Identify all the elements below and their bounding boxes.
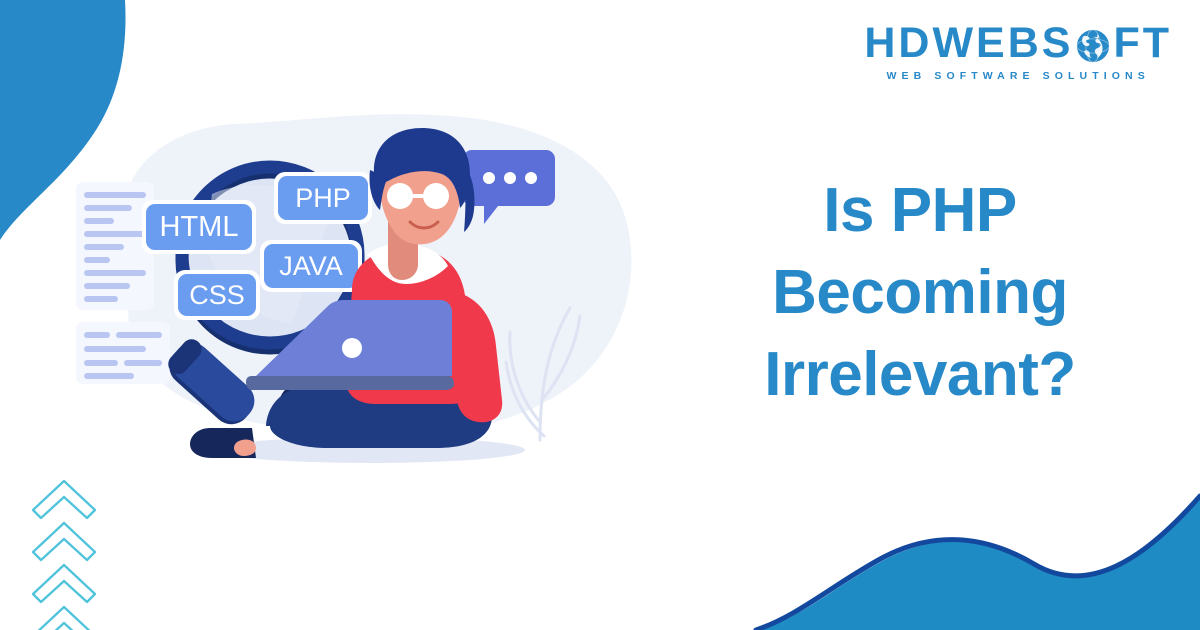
svg-text:JAVA: JAVA: [279, 251, 343, 281]
code-card-top: [76, 182, 154, 310]
page-title-line-3: Irrelevant?: [700, 334, 1140, 416]
chevron-up-icon: [33, 523, 95, 560]
page-title-line-2: Becoming: [700, 252, 1140, 334]
developer-illustration: HTML PHP CSS JAVA: [70, 110, 690, 490]
globe-icon: [1074, 27, 1112, 65]
code-tag-html: HTML: [142, 200, 256, 254]
page-title-line-1: Is PHP: [700, 170, 1140, 252]
svg-text:PHP: PHP: [295, 183, 351, 213]
chevron-up-icon: [33, 565, 95, 602]
brand-logo[interactable]: HDWEBS FT WEB SOFTWARE SOLUTIONS: [864, 22, 1172, 82]
brand-name-part-1: HDWEBS: [864, 22, 1073, 65]
svg-text:CSS: CSS: [189, 280, 245, 310]
banner-canvas: HDWEBS FT WEB SOFTWARE SOLUTIONS: [0, 0, 1200, 630]
chevron-up-icon: [33, 607, 95, 630]
code-card-bottom: [76, 322, 170, 384]
code-tag-java: JAVA: [260, 240, 362, 292]
brand-wordmark: HDWEBS FT: [864, 22, 1172, 65]
page-title: Is PHP Becoming Irrelevant?: [700, 170, 1140, 415]
brand-name-part-2: FT: [1113, 22, 1172, 65]
code-tag-css: CSS: [174, 270, 260, 320]
code-tag-php: PHP: [274, 172, 372, 224]
brand-tagline: WEB SOFTWARE SOLUTIONS: [887, 70, 1150, 82]
svg-text:HTML: HTML: [160, 211, 239, 243]
